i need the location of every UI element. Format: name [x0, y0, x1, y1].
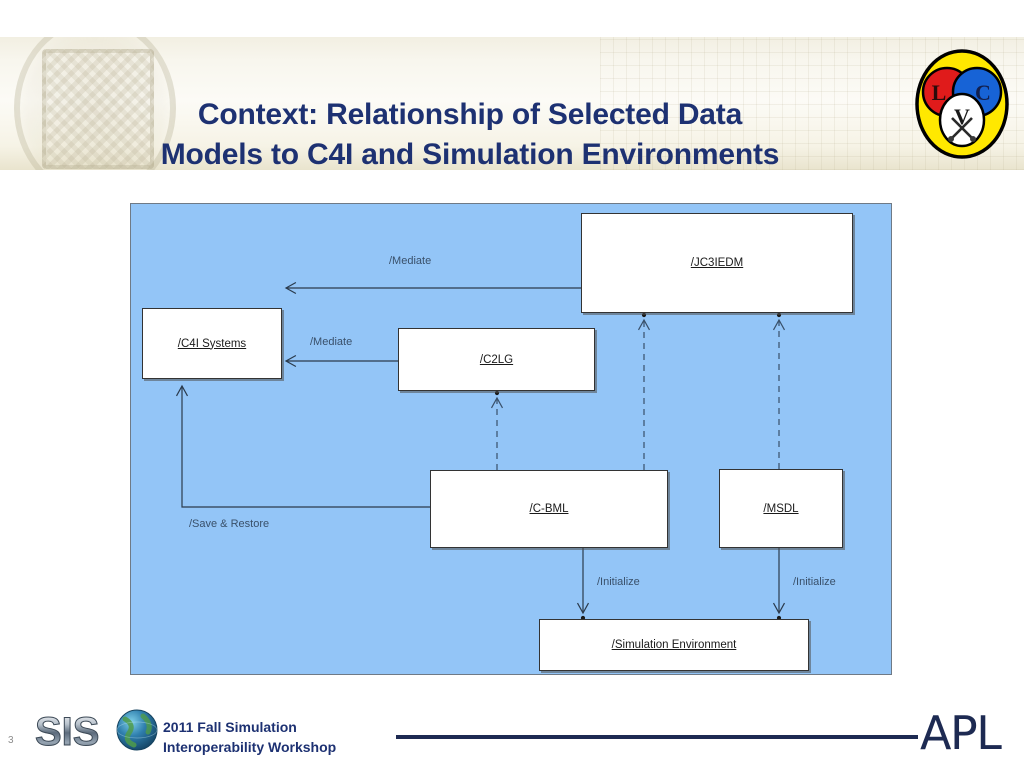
- edge-msdl-to-simulation-environment: [777, 548, 781, 620]
- page-title: Context: Relationship of Selected Data M…: [40, 95, 900, 170]
- slide-header-band: Context: Relationship of Selected Data M…: [0, 37, 1024, 170]
- slide-number: 3: [8, 735, 14, 746]
- page-title-line-1: Context: Relationship of Selected Data: [40, 95, 900, 135]
- edge-cbml-to-simulation-environment: [581, 548, 585, 620]
- svg-text:L: L: [932, 80, 947, 105]
- workshop-title: 2011 Fall Simulation Interoperability Wo…: [163, 718, 336, 758]
- edge-cbml-to-c4i-save-restore: [182, 386, 430, 507]
- node-label: /Simulation Environment: [612, 639, 737, 651]
- node-c-bml[interactable]: /C-BML: [430, 470, 668, 548]
- edge-label-save-and-restore: /Save & Restore: [189, 518, 269, 530]
- workshop-title-line-2: Interoperability Workshop: [163, 738, 336, 758]
- node-simulation-environment[interactable]: /Simulation Environment: [539, 619, 809, 671]
- node-label: /MSDL: [763, 503, 798, 515]
- svg-text:SIS: SIS: [35, 710, 99, 753]
- edge-label-mediate-middle: /Mediate: [310, 336, 352, 348]
- edge-label-initialize-right: /Initialize: [793, 576, 836, 588]
- node-label: /C2LG: [480, 354, 513, 366]
- node-c2lg[interactable]: /C2LG: [398, 328, 595, 391]
- edge-cbml-to-c2lg: [495, 391, 499, 470]
- edge-cbml-to-jc3iedm: [642, 313, 646, 470]
- page-title-line-2: Models to C4I and Simulation Environment…: [40, 135, 900, 170]
- node-msdl[interactable]: /MSDL: [719, 469, 843, 548]
- node-label: /C-BML: [530, 503, 569, 515]
- node-label: /C4I Systems: [178, 338, 246, 350]
- workshop-title-line-1: 2011 Fall Simulation: [163, 718, 336, 738]
- lvc-logo-icon: L C V: [914, 48, 1010, 160]
- node-jc3iedm[interactable]: /JC3IEDM: [581, 213, 853, 313]
- siso-logo-icon: SIS: [33, 705, 159, 753]
- apl-logo: APL: [920, 706, 1000, 760]
- context-diagram: /C4I Systems /C2LG /JC3IEDM /C-BML /MSDL…: [130, 203, 892, 675]
- footer-divider: [396, 735, 918, 739]
- svg-text:V: V: [954, 104, 970, 129]
- svg-text:C: C: [975, 80, 991, 105]
- edge-label-mediate-top: /Mediate: [389, 255, 431, 267]
- edge-msdl-to-jc3iedm: [777, 313, 781, 469]
- edge-label-initialize-left: /Initialize: [597, 576, 640, 588]
- node-label: /JC3IEDM: [691, 257, 743, 269]
- node-c4i-systems[interactable]: /C4I Systems: [142, 308, 282, 379]
